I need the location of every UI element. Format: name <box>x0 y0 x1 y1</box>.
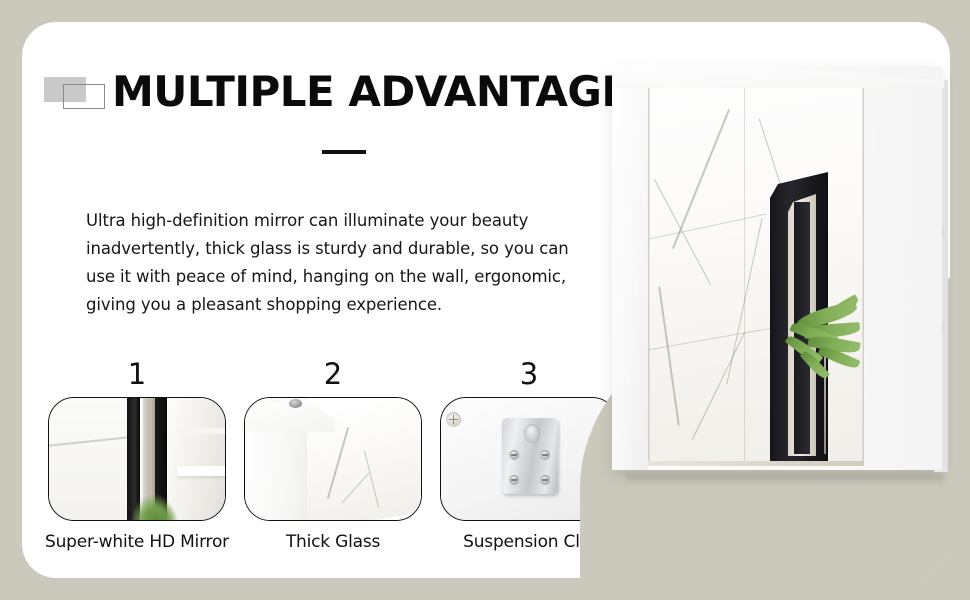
plant-reflection-2 <box>145 502 179 521</box>
title-decoration <box>44 75 108 109</box>
feature-list: 1 Super-white HD Mirror <box>44 360 624 552</box>
tile-seam-vertical <box>744 76 745 466</box>
shelf-lower <box>177 466 225 476</box>
description-paragraph: Ultra high-definition mirror can illumin… <box>86 207 596 319</box>
feature-number: 3 <box>520 360 538 389</box>
suspension-clip-plate <box>502 418 558 494</box>
screw-hole-icon <box>540 475 550 485</box>
feature-thumbnail-mirror[interactable] <box>48 397 226 521</box>
feature-number: 2 <box>324 360 342 389</box>
hinge-screw-icon <box>289 399 302 408</box>
title-divider <box>322 150 366 154</box>
marble-vein <box>692 332 746 440</box>
title-row: MULTIPLE ADVANTAGES <box>44 64 659 120</box>
screw-hole-icon <box>509 475 519 485</box>
feature-number: 1 <box>128 360 146 389</box>
page-title: MULTIPLE ADVANTAGES <box>112 71 659 113</box>
feature-thumbnail-glass[interactable] <box>244 397 422 521</box>
cabinet-left-side-panel <box>612 66 648 470</box>
screw-hole-icon <box>540 450 550 460</box>
infographic-canvas: MULTIPLE ADVANTAGES Ultra high-definitio… <box>0 0 970 600</box>
mirror-door <box>648 76 864 466</box>
feature-item-2: 2 Thick Glass <box>240 360 426 552</box>
door-bottom-trim <box>648 461 864 466</box>
decoration-outline-rect-icon <box>63 84 105 109</box>
feature-caption: Thick Glass <box>286 532 380 552</box>
product-image <box>612 58 956 478</box>
keyhole-icon <box>524 424 540 443</box>
feature-caption: Super-white HD Mirror <box>45 532 229 552</box>
screw-hole-icon <box>509 450 519 460</box>
feature-caption: Suspension Clip <box>463 532 595 552</box>
product-shadow <box>626 474 944 484</box>
tile-seam-horizontal <box>649 214 767 240</box>
shelf-upper <box>177 428 225 434</box>
feature-item-1: 1 Super-white HD Mirror <box>44 360 230 552</box>
wall-screw-icon <box>446 412 461 427</box>
marble-vein <box>658 287 679 426</box>
marble-vein <box>654 179 712 286</box>
